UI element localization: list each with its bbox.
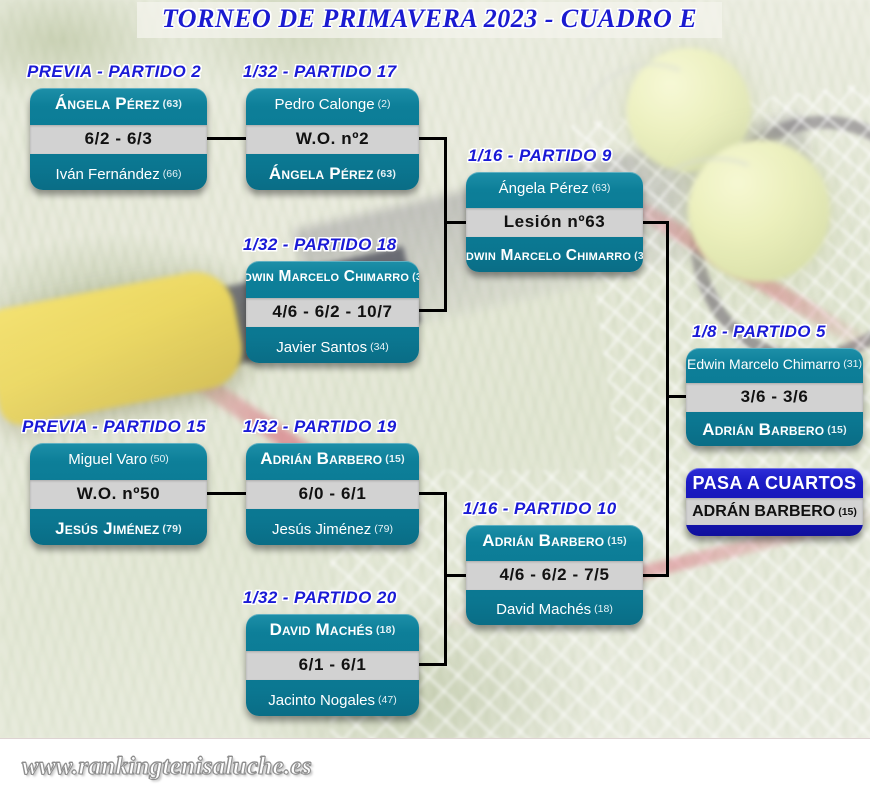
- round-label-1-32-19: 1/32 - PARTIDO 19: [243, 417, 397, 437]
- round-label-1-8-5: 1/8 - PARTIDO 5: [692, 322, 826, 342]
- player-rank: (63): [377, 168, 396, 180]
- player-name: Edwin Marcelo Chimarro: [687, 356, 840, 372]
- match-1-16-9-score: Lesión nº63: [466, 208, 643, 237]
- match-previa-15-score: W.O. nº50: [30, 480, 207, 509]
- connector-p18-stub: [419, 309, 447, 312]
- player-name: Jesús Jiménez: [272, 521, 371, 538]
- player-rank: (79): [374, 523, 393, 535]
- player-rank: (15): [385, 453, 404, 465]
- match-1-16-10-top-player: Adrián Barbero(15): [466, 525, 643, 557]
- tournament-bracket-page: TORNEO DE PRIMAVERA 2023 - CUADRO E PREV…: [0, 0, 870, 804]
- connector-into-1-8-5: [666, 395, 688, 398]
- match-1-16-10-score: 4/6 - 6/2 - 7/5: [466, 561, 643, 590]
- match-previa-2-score: 6/2 - 6/3: [30, 125, 207, 154]
- player-rank: (18): [376, 624, 395, 636]
- player-name: Ángela Pérez: [269, 164, 374, 184]
- player-name: Edwin Marcelo Chimarro: [466, 247, 631, 265]
- connector-p20-stub: [419, 663, 447, 666]
- connector-p17-p18-vertical: [444, 137, 447, 312]
- round-label-1-16-9: 1/16 - PARTIDO 9: [468, 146, 612, 166]
- round-label-1-32-17: 1/32 - PARTIDO 17: [243, 62, 397, 82]
- connector-1-16-9-stub: [641, 221, 669, 224]
- player-name: Pedro Calonge: [275, 96, 375, 113]
- player-name: ADRÁN BARBERO: [692, 503, 835, 521]
- player-rank: (63): [592, 182, 611, 194]
- match-1-32-17[interactable]: Pedro Calonge(2) W.O. nº2 Ángela Pérez(6…: [246, 88, 419, 190]
- player-name: Ángela Pérez: [55, 94, 160, 114]
- player-rank: (47): [378, 694, 397, 706]
- player-rank: (79): [162, 523, 181, 535]
- connector-p19-p20-vertical: [444, 492, 447, 666]
- player-rank: (31): [634, 250, 643, 262]
- round-label-1-16-10: 1/16 - PARTIDO 10: [463, 499, 617, 519]
- match-previa-2-top-player: Ángela Pérez(63): [30, 88, 207, 120]
- match-1-8-5-score: 3/6 - 3/6: [686, 383, 863, 412]
- player-name: Jesús Jiménez: [55, 519, 159, 539]
- qualifier-box[interactable]: PASA A CUARTOS ADRÁN BARBERO(15): [686, 468, 863, 536]
- match-1-8-5-top-player: Edwin Marcelo Chimarro(31): [686, 348, 863, 380]
- match-1-16-10[interactable]: Adrián Barbero(15) 4/6 - 6/2 - 7/5 David…: [466, 525, 643, 625]
- connector-p17-stub: [419, 137, 447, 140]
- match-1-16-10-bottom-player: David Machés(18): [466, 593, 643, 625]
- connector-previa15-to-p19: [207, 492, 246, 495]
- match-1-32-18-bottom-player: Javier Santos(34): [246, 331, 419, 363]
- qualifier-player: ADRÁN BARBERO(15): [686, 498, 863, 525]
- match-1-32-18-top-player: Edwin Marcelo Chimarro(31): [246, 261, 419, 293]
- player-rank: (2): [378, 98, 391, 110]
- connector-into-1-16-9: [444, 221, 468, 224]
- player-rank: (31): [843, 358, 862, 370]
- player-name: Adrián Barbero: [482, 531, 604, 551]
- match-1-16-9-bottom-player: Edwin Marcelo Chimarro(31): [466, 240, 643, 272]
- match-1-32-20[interactable]: David Machés(18) 6/1 - 6/1 Jacinto Nogal…: [246, 614, 419, 716]
- match-1-32-18[interactable]: Edwin Marcelo Chimarro(31) 4/6 - 6/2 - 1…: [246, 261, 419, 363]
- player-name: Edwin Marcelo Chimarro: [246, 268, 409, 286]
- match-1-32-17-top-player: Pedro Calonge(2): [246, 88, 419, 120]
- player-rank: (15): [607, 535, 626, 547]
- player-rank: (66): [163, 168, 182, 180]
- website-url[interactable]: www.rankingtenisaluche.es: [22, 753, 312, 781]
- match-1-32-20-bottom-player: Jacinto Nogales(47): [246, 684, 419, 716]
- player-rank: (50): [150, 453, 169, 465]
- connector-semifinal-vertical: [666, 221, 669, 577]
- match-1-16-9-top-player: Ángela Pérez(63): [466, 172, 643, 204]
- match-previa-15-bottom-player: Jesús Jiménez(79): [30, 513, 207, 545]
- match-previa-15[interactable]: Miguel Varo(50) W.O. nº50 Jesús Jiménez(…: [30, 443, 207, 545]
- player-name: David Machés: [496, 601, 591, 618]
- match-1-32-18-score: 4/6 - 6/2 - 10/7: [246, 298, 419, 327]
- player-name: David Machés: [270, 620, 373, 640]
- match-1-32-17-score: W.O. nº2: [246, 125, 419, 154]
- round-label-previa-2: PREVIA - PARTIDO 2: [27, 62, 201, 82]
- player-name: Miguel Varo: [68, 451, 147, 468]
- round-label-1-32-20: 1/32 - PARTIDO 20: [243, 588, 397, 608]
- match-1-32-19-bottom-player: Jesús Jiménez(79): [246, 513, 419, 545]
- match-1-32-20-top-player: David Machés(18): [246, 614, 419, 646]
- player-name: Ángela Pérez: [499, 180, 589, 197]
- player-rank: (63): [163, 98, 182, 110]
- match-1-32-20-score: 6/1 - 6/1: [246, 651, 419, 680]
- page-title: TORNEO DE PRIMAVERA 2023 - CUADRO E: [137, 4, 722, 34]
- connector-into-1-16-10: [444, 574, 468, 577]
- player-rank: (31): [412, 271, 419, 283]
- connector-1-16-10-stub: [641, 574, 669, 577]
- connector-previa2-to-p17: [207, 137, 246, 140]
- match-previa-2[interactable]: Ángela Pérez(63) 6/2 - 6/3 Iván Fernánde…: [30, 88, 207, 190]
- match-1-32-19-top-player: Adrián Barbero(15): [246, 443, 419, 475]
- match-1-8-5-bottom-player: Adrián Barbero(15): [686, 414, 863, 446]
- player-rank: (15): [827, 424, 846, 436]
- match-1-8-5[interactable]: Edwin Marcelo Chimarro(31) 3/6 - 3/6 Adr…: [686, 348, 863, 446]
- qualifier-title: PASA A CUARTOS: [686, 468, 863, 498]
- player-rank: (18): [594, 603, 613, 615]
- round-label-1-32-18: 1/32 - PARTIDO 18: [243, 235, 397, 255]
- player-name: Iván Fernández: [56, 166, 160, 183]
- player-rank: (34): [370, 341, 389, 353]
- footer: www.rankingtenisaluche.es R A T R A N K …: [0, 738, 870, 804]
- player-name: Jacinto Nogales: [268, 692, 375, 709]
- match-1-32-19-score: 6/0 - 6/1: [246, 480, 419, 509]
- connector-p19-stub: [419, 492, 447, 495]
- match-previa-15-top-player: Miguel Varo(50): [30, 443, 207, 475]
- match-1-32-19[interactable]: Adrián Barbero(15) 6/0 - 6/1 Jesús Jimén…: [246, 443, 419, 545]
- match-previa-2-bottom-player: Iván Fernández(66): [30, 158, 207, 190]
- player-rank: (15): [838, 506, 857, 518]
- match-1-32-17-bottom-player: Ángela Pérez(63): [246, 158, 419, 190]
- match-1-16-9[interactable]: Ángela Pérez(63) Lesión nº63 Edwin Marce…: [466, 172, 643, 272]
- player-name: Adrián Barbero: [260, 449, 382, 469]
- round-label-previa-15: PREVIA - PARTIDO 15: [22, 417, 206, 437]
- player-name: Adrián Barbero: [702, 420, 824, 440]
- player-name: Javier Santos: [276, 339, 367, 356]
